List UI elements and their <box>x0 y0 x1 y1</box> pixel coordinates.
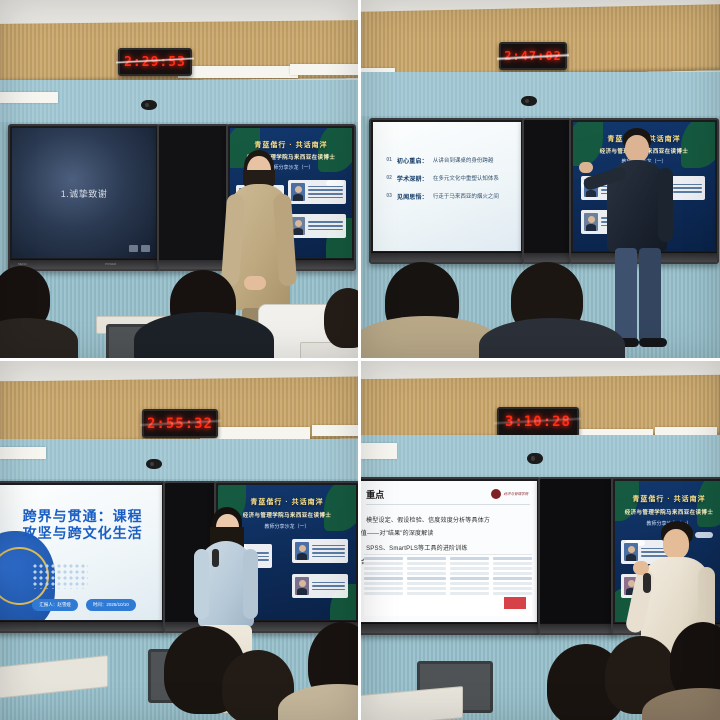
wall-note <box>0 447 46 459</box>
audience <box>361 602 720 720</box>
slide-title-line2: 攻坚与跨文化生活 <box>23 525 143 541</box>
photo-collage: 2:29:53 1.诚挚致谢 MENUPOWER <box>0 0 720 720</box>
arm-right <box>658 168 673 242</box>
audience <box>361 238 720 358</box>
digital-clock: 2:55:32 <box>142 409 218 438</box>
poster-line1: 青蓝偕行 · 共话南洋 <box>218 497 356 507</box>
document-slide: 重点 经济与管理学院 模型设定、假设检验、信度效度分析等具体方 值——对"结果"… <box>359 481 537 622</box>
agenda-item: 03 见闻思悟： 行走于马来西亚的烟火之间 <box>386 192 512 201</box>
camera-icon <box>527 453 543 464</box>
camera-icon <box>521 96 537 106</box>
slide-title: 1.诚挚致谢 <box>61 187 108 200</box>
dot-pattern <box>32 563 88 589</box>
audience <box>0 590 358 720</box>
doc-line: 模型设定、假设检验、信度效度分析等具体方 <box>366 515 526 524</box>
panel-top-left[interactable]: 2:29:53 1.诚挚致谢 MENUPOWER <box>0 0 358 358</box>
poster-line1: 青蓝偕行 · 共话南洋 <box>615 494 720 504</box>
wall-note <box>0 92 58 103</box>
agenda-key: 学术深耕： <box>397 174 428 183</box>
doc-heading: 重点 <box>366 488 384 501</box>
agenda-item: 02 学术深耕： 在多元文化中重塑认知体系 <box>386 174 512 183</box>
microphone <box>643 573 651 593</box>
poster-line1: 青蓝偕行 · 共话南洋 <box>230 140 352 150</box>
slide-title: 跨界与贯通：课程 攻坚与跨文化生活 <box>23 508 153 543</box>
blue-wall <box>361 72 720 118</box>
agenda-text: 在多元文化中重塑认知体系 <box>433 174 499 182</box>
audience-shoulder <box>134 312 274 358</box>
panel-top-right[interactable]: 2:47:02 01 初心重启： 从讲台到课桌的身份跨越 02 学术深耕： 在多 <box>358 0 720 358</box>
agenda-slide: 01 初心重启： 从讲台到课桌的身份跨越 02 学术深耕： 在多元文化中重塑认知… <box>373 122 521 251</box>
agenda-key: 初心重启： <box>397 156 428 165</box>
agenda-text: 行走于马来西亚的烟火之间 <box>433 192 499 200</box>
audience-shoulder <box>0 318 78 358</box>
camera-icon <box>141 100 157 110</box>
logo-text: 经济与管理学院 <box>504 492 529 496</box>
poster-line2: 经济与管理学院马来西亚在读博士 <box>615 508 720 516</box>
slide-title-line1: 跨界与贯通：课程 <box>23 508 143 524</box>
head <box>663 529 689 559</box>
microphone <box>212 549 219 567</box>
slide-dark: 1.诚挚致谢 <box>12 128 156 258</box>
digital-clock: 2:29:53 <box>118 48 192 76</box>
institution-logo: 经济与管理学院 <box>491 489 529 499</box>
agenda-key: 见闻思悟： <box>397 192 428 201</box>
agenda-number: 01 <box>386 157 392 163</box>
profile-card <box>292 539 348 563</box>
digital-clock: 3:10:28 <box>497 407 579 437</box>
camera-icon <box>146 459 162 469</box>
wall-note <box>361 443 397 459</box>
agenda-item: 01 初心重启： 从讲台到课桌的身份跨越 <box>386 156 512 165</box>
panel-bottom-right[interactable]: 3:10:28 重点 经济与管理学院 模型设定、假设检验、信度效度分析等具体方 … <box>358 358 720 720</box>
agenda-number: 02 <box>386 175 392 181</box>
panel-bottom-left[interactable]: 2:55:32 跨界与贯通：课程 攻坚与跨文化生活 汇报人：赵雪娅 时间：202… <box>0 358 358 720</box>
hand <box>579 162 593 173</box>
wall-note <box>312 425 358 436</box>
doc-line: SPSS、SmartPLS等工具的进阶训练 <box>366 543 526 552</box>
wall-note <box>290 64 358 75</box>
audience-head <box>324 288 358 348</box>
blue-wall <box>0 439 358 481</box>
head <box>625 135 649 162</box>
agenda-text: 从讲台到课桌的身份跨越 <box>433 156 494 164</box>
doc-line: 值——对"结果"的深度解读 <box>361 528 527 537</box>
divider <box>366 504 530 505</box>
agenda-number: 03 <box>386 193 392 199</box>
agenda-list: 01 初心重启： 从讲台到课桌的身份跨越 02 学术深耕： 在多元文化中重塑认知… <box>386 156 512 210</box>
digital-clock: 2:47:02 <box>499 42 567 70</box>
audience <box>0 248 358 358</box>
wall-note <box>178 66 298 78</box>
audience-shoulder <box>479 318 625 358</box>
